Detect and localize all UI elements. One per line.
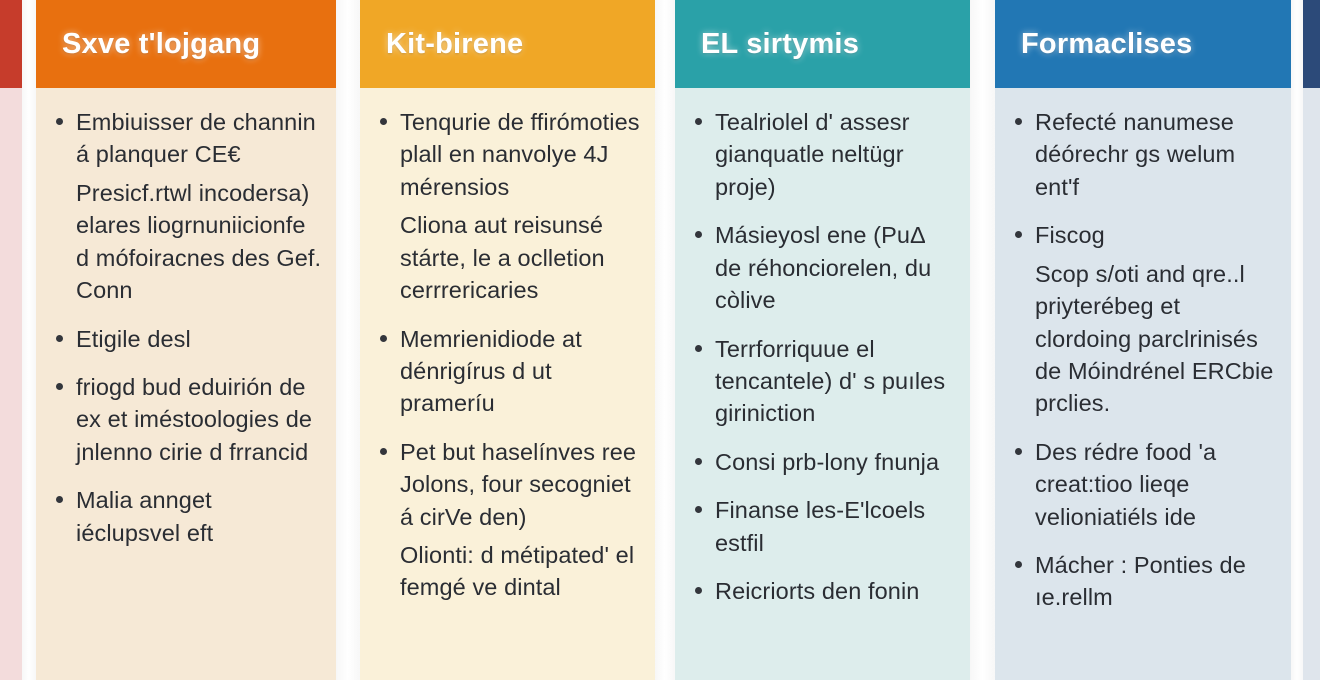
list-item-subtext: Presicf.rtwl incodersa) elares liogrnuni… bbox=[76, 177, 322, 307]
list-item[interactable]: Consi prb-lony fnunja bbox=[689, 446, 956, 478]
column-partial-right-header bbox=[1303, 0, 1320, 88]
list-item-text: Consi prb-lony fnunja bbox=[715, 449, 939, 475]
list-item[interactable]: Finanse les-E'lcoels estfil bbox=[689, 494, 956, 559]
list-item-text: Refecté nanumese déórechr gs welum ent'f bbox=[1035, 109, 1235, 200]
list-item[interactable]: Etigile desl bbox=[50, 323, 322, 355]
column-orange-header: Sxve t'lojgang bbox=[36, 0, 336, 88]
column-partial-left-header bbox=[0, 0, 22, 88]
column-gap bbox=[1291, 0, 1303, 680]
column-partial-right-body bbox=[1303, 88, 1320, 680]
column-orange-body: Embiuisser de channin á planquer CE€ Pre… bbox=[36, 88, 336, 680]
list-item-subtext: Cliona aut reisunsé stárte, le a oclleti… bbox=[400, 209, 641, 306]
list-item-text: Memrienidiode at dénrigírus d ut pramerí… bbox=[400, 326, 582, 417]
list-item-text: Etigile desl bbox=[76, 326, 191, 352]
list-item-text: Másieyosl ene (PuΔ de réhonciorelen, du … bbox=[715, 222, 931, 313]
list-item[interactable]: Embiuisser de channin á planquer CE€ Pre… bbox=[50, 106, 322, 307]
column-gap bbox=[336, 0, 360, 680]
list-item-text: Malia annget iéclupsvel eft bbox=[76, 487, 213, 545]
list-item-text: Terrforriquue el tencantele) d' s puıles… bbox=[715, 336, 945, 427]
list-item-text: Pet but haselínves ree Jolons, four seco… bbox=[400, 439, 636, 530]
list-item[interactable]: Fiscog Scop s/oti and qre..l priyterébeg… bbox=[1009, 219, 1277, 420]
list-item[interactable]: Refecté nanumese déórechr gs welum ent'f bbox=[1009, 106, 1277, 203]
list-item-text: Finanse les-E'lcoels estfil bbox=[715, 497, 925, 555]
list-item-text: friogd bud eduirión de ex et iméstoologi… bbox=[76, 374, 312, 465]
column-blue[interactable]: Formaclises Refecté nanumese déórechr gs… bbox=[995, 0, 1291, 680]
list-item-text: Des rédre food 'a creat:tioo lieqe velio… bbox=[1035, 439, 1216, 530]
column-amber[interactable]: Kit-birene Tenqurie de ffirómoties plall… bbox=[360, 0, 655, 680]
column-gap bbox=[970, 0, 995, 680]
bullet-list: Refecté nanumese déórechr gs welum ent'f… bbox=[1009, 106, 1277, 614]
list-item-subtext: Scop s/oti and qre..l priyterébeg et clo… bbox=[1035, 258, 1277, 420]
comparison-columns-board: Sxve t'lojgang Embiuisser de channin á p… bbox=[0, 0, 1320, 680]
column-amber-header: Kit-birene bbox=[360, 0, 655, 88]
column-gap bbox=[655, 0, 675, 680]
list-item[interactable]: Mácher : Ponties de ıe.rellm bbox=[1009, 549, 1277, 614]
column-blue-header: Formaclises bbox=[995, 0, 1291, 88]
list-item[interactable]: Tenqurie de ffirómoties plall en nanvoly… bbox=[374, 106, 641, 307]
list-item[interactable]: Reicriorts den fonin bbox=[689, 575, 956, 607]
bullet-list: Tealriolel d' assesr gianquatle neltügr … bbox=[689, 106, 956, 607]
column-gap bbox=[22, 0, 36, 680]
list-item-subtext: Olionti: d métipated' el femgé ve dintal bbox=[400, 539, 641, 604]
bullet-list: Tenqurie de ffirómoties plall en nanvoly… bbox=[374, 106, 641, 604]
list-item-text: Tealriolel d' assesr gianquatle neltügr … bbox=[715, 109, 910, 200]
column-teal[interactable]: EL sirtymis Tealriolel d' assesr gianqua… bbox=[675, 0, 970, 680]
column-partial-right[interactable] bbox=[1303, 0, 1320, 680]
column-orange[interactable]: Sxve t'lojgang Embiuisser de channin á p… bbox=[36, 0, 336, 680]
column-partial-left-body bbox=[0, 88, 22, 680]
column-amber-body: Tenqurie de ffirómoties plall en nanvoly… bbox=[360, 88, 655, 680]
list-item-text: Fiscog bbox=[1035, 222, 1105, 248]
list-item-text: Embiuisser de channin á planquer CE€ bbox=[76, 109, 316, 167]
list-item[interactable]: friogd bud eduirión de ex et iméstoologi… bbox=[50, 371, 322, 468]
column-partial-left[interactable] bbox=[0, 0, 22, 680]
list-item[interactable]: Terrforriquue el tencantele) d' s puıles… bbox=[689, 333, 956, 430]
column-teal-header: EL sirtymis bbox=[675, 0, 970, 88]
list-item-text: Tenqurie de ffirómoties plall en nanvoly… bbox=[400, 109, 640, 200]
list-item[interactable]: Memrienidiode at dénrigírus d ut pramerí… bbox=[374, 323, 641, 420]
list-item-text: Mácher : Ponties de ıe.rellm bbox=[1035, 552, 1246, 610]
list-item[interactable]: Malia annget iéclupsvel eft bbox=[50, 484, 322, 549]
list-item[interactable]: Des rédre food 'a creat:tioo lieqe velio… bbox=[1009, 436, 1277, 533]
list-item[interactable]: Tealriolel d' assesr gianquatle neltügr … bbox=[689, 106, 956, 203]
column-blue-body: Refecté nanumese déórechr gs welum ent'f… bbox=[995, 88, 1291, 680]
bullet-list: Embiuisser de channin á planquer CE€ Pre… bbox=[50, 106, 322, 549]
list-item[interactable]: Pet but haselínves ree Jolons, four seco… bbox=[374, 436, 641, 604]
list-item[interactable]: Másieyosl ene (PuΔ de réhonciorelen, du … bbox=[689, 219, 956, 316]
column-teal-body: Tealriolel d' assesr gianquatle neltügr … bbox=[675, 88, 970, 680]
list-item-text: Reicriorts den fonin bbox=[715, 578, 919, 604]
